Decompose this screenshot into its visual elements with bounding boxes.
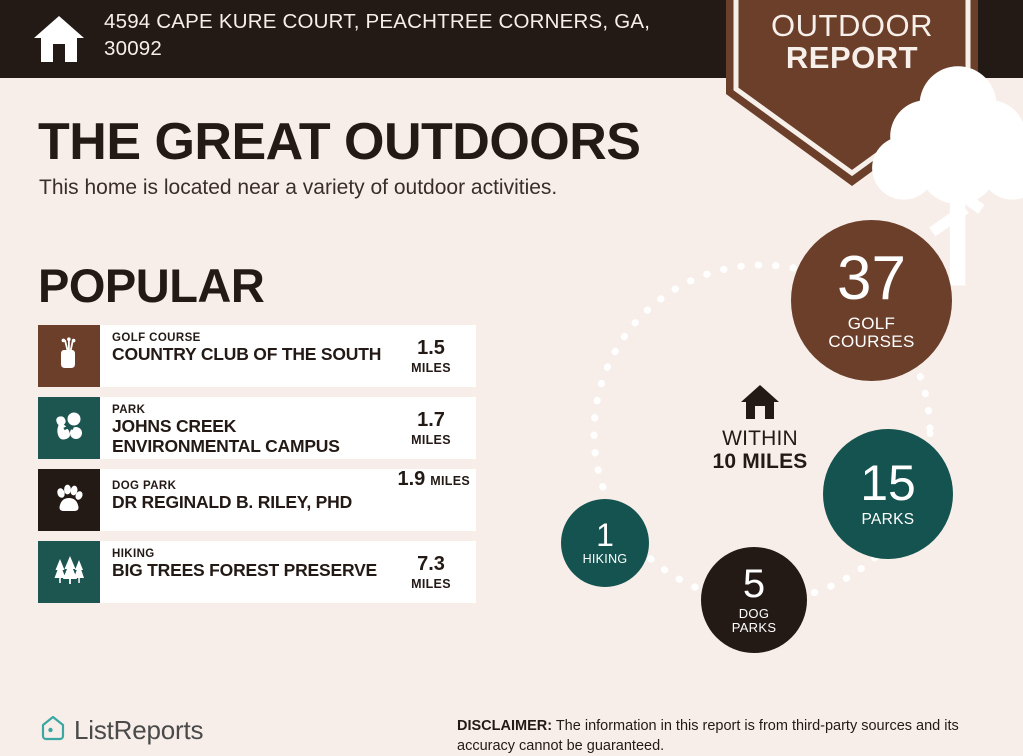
header-content: 4594 CAPE KURE COURT, PEACHTREE CORNERS,… xyxy=(32,8,664,64)
distance-value: 7.3 xyxy=(417,554,445,574)
popular-heading: POPULAR xyxy=(38,258,264,313)
list-item-name: JOHNS CREEK ENVIRONMENTAL CAMPUS xyxy=(112,417,388,456)
distance-value: 1.5 xyxy=(417,338,445,358)
stat-label-line-2: COURSES xyxy=(828,332,914,351)
list-item-name: COUNTRY CLUB OF THE SOUTH xyxy=(112,345,388,365)
within-10-miles-cluster: 37 GOLF COURSES 15 PARKS 5 DOG PARKS 1 H… xyxy=(540,215,1023,675)
stat-bubble-dog-parks[interactable]: 5 DOG PARKS xyxy=(701,547,807,653)
cluster-center-label: WITHIN 10 MILES xyxy=(690,383,830,473)
popular-list: GOLF COURSE COUNTRY CLUB OF THE SOUTH 1.… xyxy=(38,325,476,613)
list-item-body: DOG PARK DR REGINALD B. RILEY, PHD xyxy=(100,469,384,531)
listreports-wordmark: ListReports xyxy=(74,715,203,746)
list-item[interactable]: PARK JOHNS CREEK ENVIRONMENTAL CAMPUS 1.… xyxy=(38,397,476,459)
paw-icon xyxy=(52,481,86,520)
list-item-distance: 1.7 MILES xyxy=(392,397,476,459)
home-icon xyxy=(32,14,86,64)
list-item-distance: 7.3 MILES xyxy=(392,541,476,603)
list-item-body: PARK JOHNS CREEK ENVIRONMENTAL CAMPUS xyxy=(100,397,392,459)
list-item-name: BIG TREES FOREST PRESERVE xyxy=(112,561,388,581)
stat-bubble-parks[interactable]: 15 PARKS xyxy=(823,429,953,559)
list-item-body: GOLF COURSE COUNTRY CLUB OF THE SOUTH xyxy=(100,325,392,387)
golf-bag-icon xyxy=(52,337,86,376)
stat-label-line-1: GOLF xyxy=(848,314,896,333)
list-item-name: DR REGINALD B. RILEY, PHD xyxy=(112,493,380,513)
list-item-distance: 1.5 MILES xyxy=(392,325,476,387)
home-icon xyxy=(690,383,830,421)
stat-label: HIKING xyxy=(583,553,628,566)
list-item[interactable]: DOG PARK DR REGINALD B. RILEY, PHD 1.9 M… xyxy=(38,469,476,531)
disclaimer: DISCLAIMER: The information in this repo… xyxy=(457,717,1017,756)
list-item-icon-tile xyxy=(38,541,100,603)
outdoor-report-badge: OUTDOOR REPORT xyxy=(726,0,978,192)
center-line-1: WITHIN xyxy=(690,427,830,450)
distance-unit: MILES xyxy=(411,433,451,447)
list-item-icon-tile xyxy=(38,397,100,459)
stat-label-line-2: PARKS xyxy=(732,620,777,635)
list-item[interactable]: GOLF COURSE COUNTRY CLUB OF THE SOUTH 1.… xyxy=(38,325,476,387)
page-subtitle: This home is located near a variety of o… xyxy=(39,176,557,200)
list-item-icon-tile xyxy=(38,469,100,531)
list-item-body: HIKING BIG TREES FOREST PRESERVE xyxy=(100,541,392,603)
page-title: THE GREAT OUTDOORS xyxy=(38,112,640,172)
center-line-2: 10 MILES xyxy=(690,450,830,473)
distance-unit: MILES xyxy=(430,474,470,488)
property-address: 4594 CAPE KURE COURT, PEACHTREE CORNERS,… xyxy=(104,8,664,62)
distance-unit: MILES xyxy=(411,361,451,375)
tree-icon xyxy=(832,64,872,114)
trees-icon xyxy=(52,553,86,592)
stat-label: PARKS xyxy=(862,512,915,528)
listreports-logo[interactable]: ListReports xyxy=(40,714,203,747)
list-item-distance: 1.9 MILES xyxy=(384,469,476,531)
list-item-icon-tile xyxy=(38,325,100,387)
list-item[interactable]: HIKING BIG TREES FOREST PRESERVE 7.3 MIL… xyxy=(38,541,476,603)
stat-label: DOG PARKS xyxy=(732,607,777,634)
stat-bubble-hiking[interactable]: 1 HIKING xyxy=(561,499,649,587)
stat-value: 1 xyxy=(596,520,614,550)
park-icon xyxy=(52,409,86,448)
distance-unit: MILES xyxy=(411,577,451,591)
stat-label: GOLF COURSES xyxy=(828,315,914,351)
stat-value: 15 xyxy=(860,460,916,508)
distance-value: 1.9 xyxy=(397,469,425,489)
stat-value: 5 xyxy=(743,565,765,603)
listreports-house-icon xyxy=(40,714,66,747)
disclaimer-label: DISCLAIMER: xyxy=(457,718,552,734)
stat-bubble-golf-courses[interactable]: 37 GOLF COURSES xyxy=(791,220,952,381)
distance-value: 1.7 xyxy=(417,410,445,430)
stat-value: 37 xyxy=(837,250,906,309)
